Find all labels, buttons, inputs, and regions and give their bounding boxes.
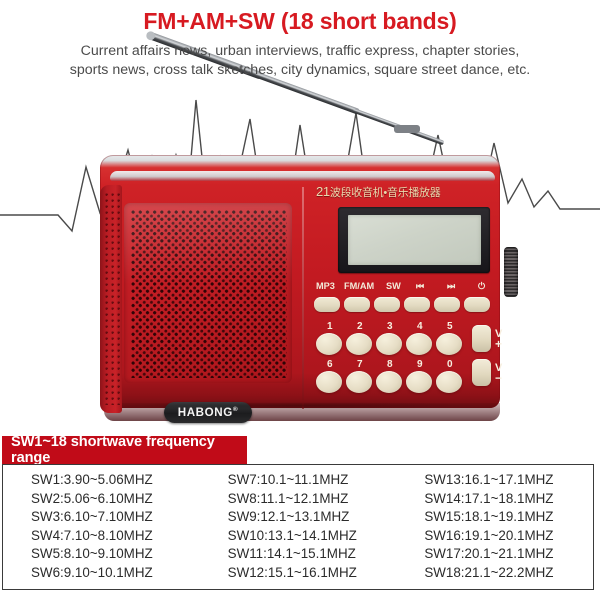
volume-down-label: V− (495, 363, 502, 383)
frequency-cell: SW5:8.10~9.10MHZ (31, 545, 200, 564)
frequency-cell: SW14:17.1~18.1MHZ (424, 490, 593, 509)
volume-up-button[interactable] (472, 325, 491, 352)
subtitle-line-1: Current affairs news, urban interviews, … (81, 43, 520, 59)
keypad-label-9: 9 (417, 359, 423, 370)
speaker-grille-holes-offset (135, 214, 287, 378)
keypad-label-3: 3 (387, 321, 393, 332)
frequency-cell: SW6:9.10~10.1MHZ (31, 564, 200, 583)
page-headline: FM+AM+SW (18 short bands) (0, 8, 600, 35)
volume-up-sign: + (495, 339, 502, 349)
keypad-button-4[interactable] (406, 333, 432, 355)
frequency-column-2: SW7:10.1~11.1MHZ SW8:11.1~12.1MHZ SW9:12… (200, 471, 397, 583)
speaker-grille (124, 203, 292, 383)
antenna-base (394, 125, 420, 133)
control-button-row (314, 297, 494, 312)
frequency-cell: SW4:7.10~8.10MHZ (31, 527, 200, 546)
power-button[interactable] (464, 297, 490, 312)
frequency-cell: SW15:18.1~19.1MHZ (424, 508, 593, 527)
control-label-next-track: ⏭ (447, 281, 455, 292)
keypad-button-3[interactable] (376, 333, 402, 355)
keypad-button-2[interactable] (346, 333, 372, 355)
previous-track-button[interactable] (404, 297, 430, 312)
keypad-button-1[interactable] (316, 333, 342, 355)
control-label-fm-am: FM/AM (344, 281, 374, 291)
fm-am-button[interactable] (344, 297, 370, 312)
keypad-button-8[interactable] (376, 371, 402, 393)
frequency-cell: SW9:12.1~13.1MHZ (228, 508, 397, 527)
frequency-column-3: SW13:16.1~17.1MHZ SW14:17.1~18.1MHZ SW15… (396, 471, 593, 583)
keypad-label-6: 6 (327, 359, 333, 370)
frequency-cell: SW10:13.1~14.1MHZ (228, 527, 397, 546)
keypad-button-6[interactable] (316, 371, 342, 393)
numeric-keypad: 1 2 3 4 5 6 7 8 9 0 (316, 321, 472, 395)
mp3-button[interactable] (314, 297, 340, 312)
keypad-label-8: 8 (387, 359, 393, 370)
device-drop-shadow (122, 402, 482, 409)
keypad-label-1: 1 (327, 321, 333, 332)
control-label-mp3: MP3 (316, 281, 335, 291)
radio-device: HABONG® 21波段收音机•音乐播放器 MP3 FM/AM SW ⏮ ⏭ ⏻ (98, 140, 502, 412)
control-label-sw: SW (386, 281, 401, 291)
frequency-cell: SW13:16.1~17.1MHZ (424, 471, 593, 490)
page-subtitle: Current affairs news, urban interviews, … (30, 42, 570, 80)
volume-down-button[interactable] (472, 359, 491, 386)
keypad-label-0: 0 (447, 359, 453, 370)
volume-down-sign: − (495, 373, 502, 383)
frequency-cell: SW7:10.1~11.1MHZ (228, 471, 397, 490)
subtitle-line-2: sports news, cross talk sketches, city d… (30, 61, 570, 80)
sw-button[interactable] (374, 297, 400, 312)
frequency-cell: SW18:21.1~22.2MHZ (424, 564, 593, 583)
frequency-cell: SW11:14.1~15.1MHZ (228, 545, 397, 564)
frequency-cell: SW17:20.1~21.1MHZ (424, 545, 593, 564)
keypad-button-7[interactable] (346, 371, 372, 393)
control-label-row: MP3 FM/AM SW ⏮ ⏭ ⏻ (316, 281, 492, 295)
keypad-button-5[interactable] (436, 333, 462, 355)
tuning-wheel[interactable] (504, 247, 518, 297)
shortwave-frequency-table: SW1~18 shortwave frequency range SW1:3.9… (2, 436, 598, 596)
frequency-cell: SW12:15.1~16.1MHZ (228, 564, 397, 583)
keypad-label-7: 7 (357, 359, 363, 370)
frequency-cell: SW1:3.90~5.06MHZ (31, 471, 200, 490)
control-label-previous-track: ⏮ (416, 281, 424, 292)
keypad-label-2: 2 (357, 321, 363, 332)
frequency-table-grid: SW1:3.90~5.06MHZ SW2:5.06~6.10MHZ SW3:6.… (2, 464, 594, 590)
frequency-cell: SW3:6.10~7.10MHZ (31, 508, 200, 527)
keypad-label-4: 4 (417, 321, 423, 332)
volume-control-group: V+ V− (472, 325, 518, 395)
volume-up-label: V+ (495, 329, 502, 349)
control-label-power: ⏻ (478, 281, 485, 292)
keypad-button-9[interactable] (406, 371, 432, 393)
next-track-button[interactable] (434, 297, 460, 312)
frequency-cell: SW2:5.06~6.10MHZ (31, 490, 200, 509)
frequency-cell: SW8:11.1~12.1MHZ (228, 490, 397, 509)
frequency-table-header-label: SW1~18 shortwave frequency range (2, 434, 247, 466)
frequency-column-1: SW1:3.90~5.06MHZ SW2:5.06~6.10MHZ SW3:6.… (3, 471, 200, 583)
keypad-label-5: 5 (447, 321, 453, 332)
frequency-cell: SW16:19.1~20.1MHZ (424, 527, 593, 546)
keypad-button-0[interactable] (436, 371, 462, 393)
frequency-table-header: SW1~18 shortwave frequency range (2, 436, 247, 464)
